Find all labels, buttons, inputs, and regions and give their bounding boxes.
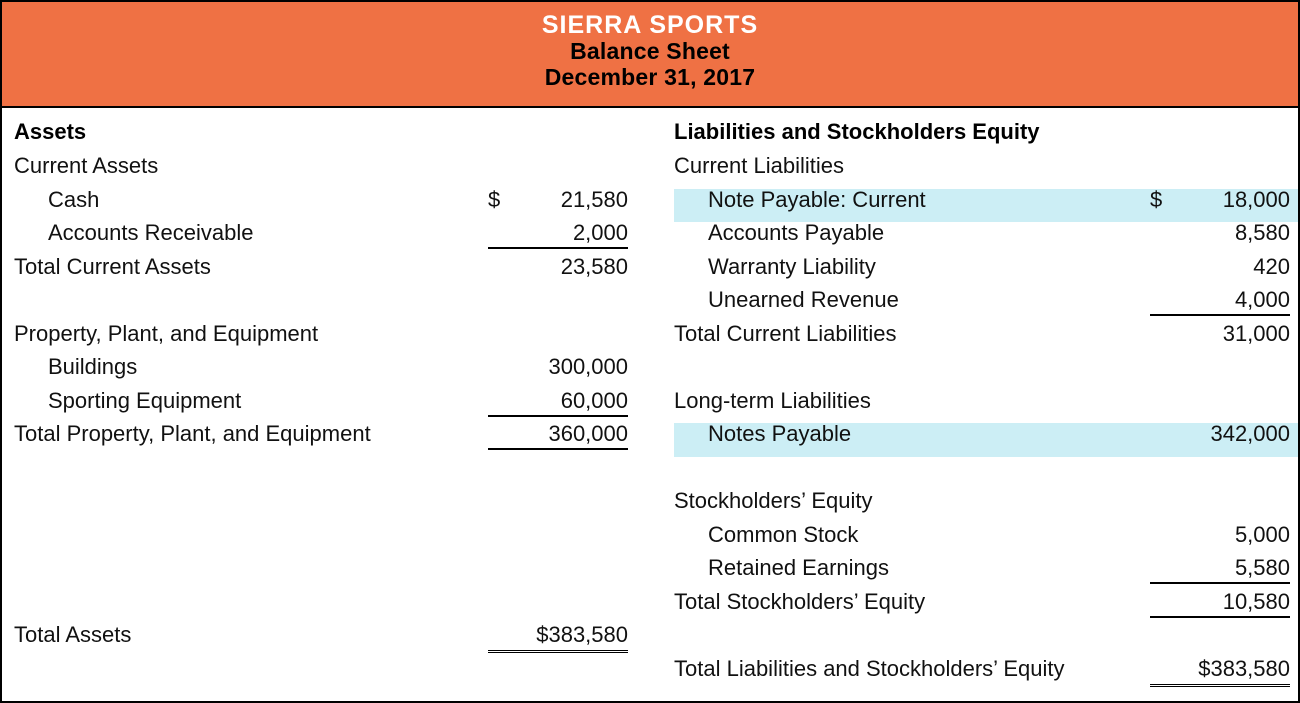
subtotal-total-current-assets: Total Current Assets 23,580 <box>14 256 628 290</box>
amount-value: 2,000 <box>514 222 628 244</box>
line-item-label: Warranty Liability <box>674 256 1150 278</box>
line-item-retained-earnings: Retained Earnings 5,580 <box>674 557 1290 591</box>
grand-total-amount-cell: $383,580 <box>488 624 628 653</box>
line-item-amount-cell: 8,580 <box>1150 222 1290 247</box>
amount-value: 360,000 <box>514 423 628 445</box>
line-item-label: Buildings <box>14 356 488 378</box>
amount-value: 5,580 <box>1176 557 1290 579</box>
grand-total-amount-cell: $383,580 <box>1150 658 1290 687</box>
line-item-unearned-revenue: Unearned Revenue 4,000 <box>674 289 1290 323</box>
amount-value: 342,000 <box>1176 423 1290 445</box>
amount-value: 5,000 <box>1176 524 1290 546</box>
section-heading-long-term-liabilities: Long-term Liabilities <box>674 390 1290 424</box>
line-item-label: Notes Payable <box>674 423 1150 445</box>
spacer-row <box>674 624 1290 658</box>
statement-title: Balance Sheet <box>2 39 1298 65</box>
subtotal-label: Total Property, Plant, and Equipment <box>14 423 488 445</box>
line-item-amount-cell: 5,580 <box>1150 557 1290 584</box>
amount-value: $383,580 <box>488 624 628 646</box>
spacer-row <box>674 356 1290 390</box>
line-item-amount-cell: 300,000 <box>488 356 628 381</box>
line-item-label: Sporting Equipment <box>14 390 488 412</box>
section-heading-ppe: Property, Plant, and Equipment <box>14 323 628 357</box>
statement-date: December 31, 2017 <box>2 65 1298 91</box>
subtotal-amount-cell: 360,000 <box>488 423 628 450</box>
line-item-label: Cash <box>14 189 488 211</box>
amount-value: 21,580 <box>514 189 628 211</box>
balance-sheet: SIERRA SPORTS Balance Sheet December 31,… <box>0 0 1300 703</box>
assets-heading: Assets <box>14 120 628 144</box>
section-label: Stockholders’ Equity <box>674 490 1150 512</box>
line-item-sporting-equipment: Sporting Equipment 60,000 <box>14 390 628 424</box>
subtotal-amount-cell: 31,000 <box>1150 323 1290 348</box>
sheet-body: Assets Current Assets Cash $ 21,580 Acco… <box>2 108 1298 701</box>
amount-value: 31,000 <box>1176 323 1290 345</box>
grand-total-assets: Total Assets $383,580 <box>14 624 628 658</box>
grand-total-label: Total Assets <box>14 624 488 646</box>
amount-value: 10,580 <box>1176 591 1290 613</box>
spacer-row <box>14 490 628 524</box>
line-item-note-payable-current: Note Payable: Current $ 18,000 <box>674 189 1298 223</box>
amount-value: 60,000 <box>514 390 628 412</box>
line-item-amount-cell: 2,000 <box>488 222 628 249</box>
line-item-amount-cell: $ 21,580 <box>488 189 628 214</box>
subtotal-amount-cell: 10,580 <box>1150 591 1290 618</box>
line-item-common-stock: Common Stock 5,000 <box>674 524 1290 558</box>
subtotal-total-current-liabilities: Total Current Liabilities 31,000 <box>674 323 1290 357</box>
section-label: Long-term Liabilities <box>674 390 1150 412</box>
section-label: Current Assets <box>14 155 488 177</box>
spacer-row <box>674 457 1290 491</box>
section-label: Current Liabilities <box>674 155 1150 177</box>
subtotal-amount-cell: 23,580 <box>488 256 628 281</box>
subtotal-label: Total Current Liabilities <box>674 323 1150 345</box>
line-item-label: Note Payable: Current <box>674 189 1150 211</box>
line-item-cash: Cash $ 21,580 <box>14 189 628 223</box>
section-heading-current-assets: Current Assets <box>14 155 628 189</box>
line-item-warranty-liability: Warranty Liability 420 <box>674 256 1290 290</box>
amount-value: 4,000 <box>1176 289 1290 311</box>
currency-symbol: $ <box>1150 189 1176 211</box>
amount-value: 420 <box>1176 256 1290 278</box>
amount-value: 23,580 <box>514 256 628 278</box>
line-item-amount-cell: 4,000 <box>1150 289 1290 316</box>
liabilities-equity-column: Liabilities and Stockholders Equity Curr… <box>662 108 1298 701</box>
amount-value: 300,000 <box>514 356 628 378</box>
line-item-label: Accounts Receivable <box>14 222 488 244</box>
line-item-label: Common Stock <box>674 524 1150 546</box>
line-item-notes-payable: Notes Payable 342,000 <box>674 423 1298 457</box>
line-item-label: Unearned Revenue <box>674 289 1150 311</box>
liabilities-equity-heading: Liabilities and Stockholders Equity <box>674 120 1290 144</box>
line-item-amount-cell: 60,000 <box>488 390 628 417</box>
line-item-label: Retained Earnings <box>674 557 1150 579</box>
subtotal-label: Total Stockholders’ Equity <box>674 591 1150 613</box>
grand-total-liabilities-equity: Total Liabilities and Stockholders’ Equi… <box>674 658 1290 692</box>
line-item-amount-cell: 5,000 <box>1150 524 1290 549</box>
section-heading-stockholders-equity: Stockholders’ Equity <box>674 490 1290 524</box>
spacer-row <box>14 289 628 323</box>
subtotal-label: Total Current Assets <box>14 256 488 278</box>
subtotal-total-stockholders-equity: Total Stockholders’ Equity 10,580 <box>674 591 1290 625</box>
spacer-row <box>14 557 628 591</box>
amount-value: 18,000 <box>1176 189 1290 211</box>
currency-symbol: $ <box>488 189 514 211</box>
subtotal-total-ppe: Total Property, Plant, and Equipment 360… <box>14 423 628 457</box>
assets-column: Assets Current Assets Cash $ 21,580 Acco… <box>2 108 662 701</box>
amount-value: $383,580 <box>1150 658 1290 680</box>
grand-total-label: Total Liabilities and Stockholders’ Equi… <box>674 658 1150 680</box>
line-item-accounts-receivable: Accounts Receivable 2,000 <box>14 222 628 256</box>
spacer-row <box>14 524 628 558</box>
spacer-row <box>14 591 628 625</box>
spacer-row <box>14 457 628 491</box>
line-item-amount-cell: $ 18,000 <box>1150 189 1290 214</box>
section-label: Property, Plant, and Equipment <box>14 323 488 345</box>
amount-value: 8,580 <box>1176 222 1290 244</box>
line-item-label: Accounts Payable <box>674 222 1150 244</box>
line-item-buildings: Buildings 300,000 <box>14 356 628 390</box>
company-name: SIERRA SPORTS <box>2 11 1298 39</box>
section-heading-current-liabilities: Current Liabilities <box>674 155 1290 189</box>
line-item-amount-cell: 342,000 <box>1150 423 1290 448</box>
line-item-accounts-payable: Accounts Payable 8,580 <box>674 222 1290 256</box>
sheet-header: SIERRA SPORTS Balance Sheet December 31,… <box>2 2 1298 108</box>
line-item-amount-cell: 420 <box>1150 256 1290 281</box>
